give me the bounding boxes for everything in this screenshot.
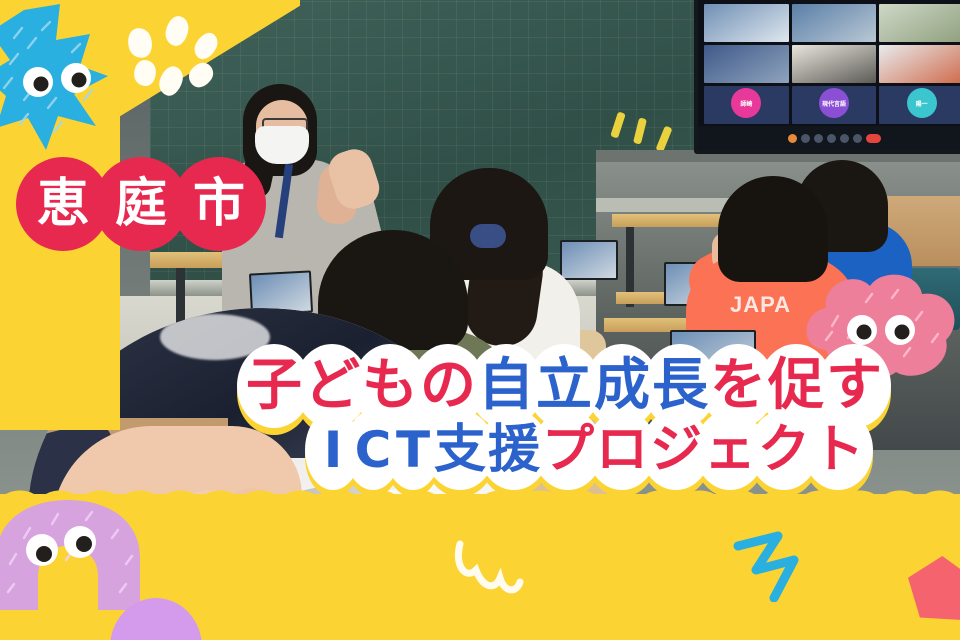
headline-glyph: 成 (594, 358, 650, 414)
student-head (718, 176, 828, 282)
video-call-controls (698, 126, 960, 150)
chat-icon (827, 134, 836, 143)
headline-glyph: の (420, 358, 476, 414)
share-screen-icon (840, 134, 849, 143)
headline-glyph: 立 (536, 358, 592, 414)
headline-glyph: 長 (652, 358, 708, 414)
headline-glyph: す (826, 358, 882, 414)
city-badge: 恵 庭 市 (16, 148, 266, 260)
headline-glyph-text: 立 (536, 358, 592, 414)
headline-glyph: T (394, 424, 432, 476)
video-call-display: 師崎 現代言語 陽一 (694, 0, 960, 154)
video-tile (792, 4, 877, 42)
headline-glyph-text: 支 (434, 424, 486, 476)
headline-glyph-text: ク (758, 424, 810, 476)
headline-glyph-text: 自 (478, 358, 534, 414)
headline-glyph-text: ェ (704, 424, 756, 476)
scalloped-edge (0, 486, 960, 522)
headline-glyph-text: す (826, 358, 882, 414)
participant-avatar: 陽一 (907, 88, 937, 118)
hair-scrunchie (470, 224, 506, 248)
headline-glyph-text: 長 (652, 358, 708, 414)
headline-glyph: ェ (704, 424, 756, 476)
headline-glyph-text: ジ (650, 424, 702, 476)
participants-icon (814, 134, 823, 143)
campaign-banner: 師崎 現代言語 陽一 (0, 0, 960, 640)
purple-arch-character (0, 498, 142, 610)
headline-glyph: 支 (434, 424, 486, 476)
headline-glyph: ジ (650, 424, 702, 476)
blue-blob-character (0, 4, 132, 152)
video-tile-avatar: 陽一 (879, 86, 960, 124)
city-badge-char: 市 (193, 178, 245, 230)
headline-glyph-text: の (420, 358, 476, 414)
headline-glyph-text: C (355, 425, 392, 475)
video-tile (879, 4, 960, 42)
headline-line-1: 子どもの自立成長を促す (0, 358, 960, 414)
headline-glyph: ロ (596, 424, 648, 476)
city-badge-circle: 市 (172, 157, 266, 251)
headline-glyph-text: 促 (768, 358, 824, 414)
video-tile (879, 45, 960, 83)
headline-glyph-text: 成 (594, 358, 650, 414)
headline-glyph: 促 (768, 358, 824, 414)
headline-glyph: C (354, 424, 392, 476)
participant-avatar: 現代言語 (819, 88, 849, 118)
headline-glyph-text: も (362, 358, 418, 414)
headline-glyph: 自 (478, 358, 534, 414)
white-squiggle (450, 540, 530, 606)
headline-glyph: も (362, 358, 418, 414)
headline-glyph-text: I (324, 425, 343, 475)
video-tile-avatar: 現代言語 (792, 86, 877, 124)
headline-glyph-text: T (396, 425, 430, 475)
headline: 子どもの自立成長を促す ICT支援プロジェクト (0, 358, 960, 476)
headline-glyph-text: ロ (596, 424, 648, 476)
video-call-grid: 師崎 現代言語 陽一 (704, 4, 960, 124)
microphone-icon (788, 134, 797, 143)
hang-up-icon (866, 134, 881, 143)
participant-avatar: 師崎 (731, 88, 761, 118)
headline-glyph-text: ト (812, 424, 864, 476)
headline-glyph-text: ど (304, 358, 360, 414)
headline-glyph-text: 子 (246, 358, 302, 414)
headline-glyph: ど (304, 358, 360, 414)
student-shirt-text: JAPA (730, 292, 791, 318)
camera-icon (801, 134, 810, 143)
headline-glyph: ク (758, 424, 810, 476)
headline-glyph-text: を (710, 358, 766, 414)
video-tile (704, 4, 789, 42)
city-badge-char: 恵 (37, 178, 89, 230)
headline-glyph-text: 援 (488, 424, 540, 476)
headline-glyph: ト (812, 424, 864, 476)
blue-zigzag (732, 530, 818, 602)
headline-line-2: ICT支援プロジェクト (0, 424, 960, 476)
headline-glyph: を (710, 358, 766, 414)
headline-glyph-text: プ (542, 424, 594, 476)
city-badge-char: 庭 (115, 178, 167, 230)
headline-glyph: 援 (488, 424, 540, 476)
video-tile (792, 45, 877, 83)
laptop (560, 240, 618, 280)
headline-glyph: プ (542, 424, 594, 476)
video-tile (704, 45, 789, 83)
video-tile-avatar: 師崎 (704, 86, 789, 124)
headline-glyph: 子 (246, 358, 302, 414)
more-options-icon (853, 134, 862, 143)
